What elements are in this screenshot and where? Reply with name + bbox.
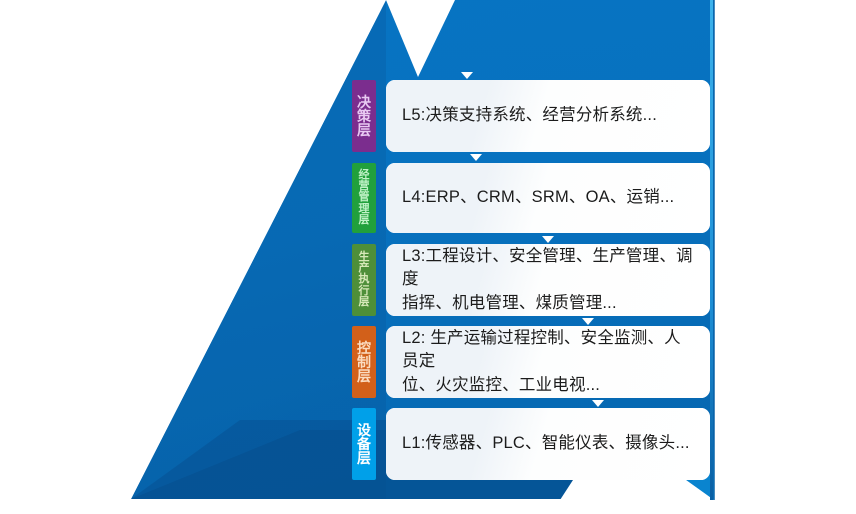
tab-char: 策 bbox=[357, 109, 371, 123]
tab-char: 执 bbox=[359, 274, 370, 285]
level-row-l2[interactable]: 控 制 层 L2: 生产运输过程控制、安全监测、人员定 位、火灾监控、工业电视.… bbox=[352, 326, 710, 398]
flow-arrow-icon bbox=[582, 318, 594, 325]
tab-char: 控 bbox=[357, 341, 371, 355]
tab-char: 层 bbox=[359, 297, 370, 308]
flow-arrow-icon bbox=[542, 236, 554, 243]
level-card-l3[interactable]: L3:工程设计、安全管理、生产管理、调度 指挥、机电管理、煤质管理... bbox=[386, 244, 710, 316]
tab-char: 层 bbox=[357, 123, 371, 137]
level-text-l1: L1:传感器、PLC、智能仪表、摄像头... bbox=[402, 432, 690, 455]
level-card-l5[interactable]: L5:决策支持系统、经营分析系统... bbox=[386, 80, 710, 152]
level-text-l4: L4:ERP、CRM、SRM、OA、运销... bbox=[402, 186, 674, 209]
level-tab-l5[interactable]: 决 策 层 bbox=[352, 80, 376, 152]
tab-char: 制 bbox=[357, 355, 371, 369]
tab-char: 层 bbox=[359, 215, 370, 226]
level-tab-l2[interactable]: 控 制 层 bbox=[352, 326, 376, 398]
level-row-l5[interactable]: 决 策 层 L5:决策支持系统、经营分析系统... bbox=[352, 80, 710, 152]
level-text-l3: L3:工程设计、安全管理、生产管理、调度 指挥、机电管理、煤质管理... bbox=[402, 245, 694, 315]
level-text-l5: L5:决策支持系统、经营分析系统... bbox=[402, 104, 657, 127]
slide-canvas: 决 策 层 L5:决策支持系统、经营分析系统... 经 营 管 理 层 L4:E… bbox=[0, 0, 856, 514]
flow-arrow-icon bbox=[461, 72, 473, 79]
level-row-l1[interactable]: 设 备 层 L1:传感器、PLC、智能仪表、摄像头... bbox=[352, 408, 710, 480]
tab-char: 管 bbox=[359, 192, 370, 203]
tab-char: 决 bbox=[357, 95, 371, 109]
level-row-l3[interactable]: 生 产 执 行 层 L3:工程设计、安全管理、生产管理、调度 指挥、机电管理、煤… bbox=[352, 244, 710, 316]
level-row-l4[interactable]: 经 营 管 理 层 L4:ERP、CRM、SRM、OA、运销... bbox=[352, 163, 710, 233]
tab-char: 设 bbox=[357, 423, 371, 437]
level-card-l4[interactable]: L4:ERP、CRM、SRM、OA、运销... bbox=[386, 163, 710, 233]
flow-arrow-icon bbox=[592, 400, 604, 407]
level-tab-l1[interactable]: 设 备 层 bbox=[352, 408, 376, 480]
flow-arrow-icon bbox=[470, 154, 482, 161]
level-rows: 决 策 层 L5:决策支持系统、经营分析系统... 经 营 管 理 层 L4:E… bbox=[0, 0, 856, 514]
level-tab-l4[interactable]: 经 营 管 理 层 bbox=[352, 163, 376, 233]
level-card-l1[interactable]: L1:传感器、PLC、智能仪表、摄像头... bbox=[386, 408, 710, 480]
tab-char: 备 bbox=[357, 437, 371, 451]
level-tab-l3[interactable]: 生 产 执 行 层 bbox=[352, 244, 376, 316]
level-text-l2: L2: 生产运输过程控制、安全监测、人员定 位、火灾监控、工业电视... bbox=[402, 327, 694, 397]
level-card-l2[interactable]: L2: 生产运输过程控制、安全监测、人员定 位、火灾监控、工业电视... bbox=[386, 326, 710, 398]
tab-char: 层 bbox=[357, 369, 371, 383]
tab-char: 层 bbox=[357, 451, 371, 465]
